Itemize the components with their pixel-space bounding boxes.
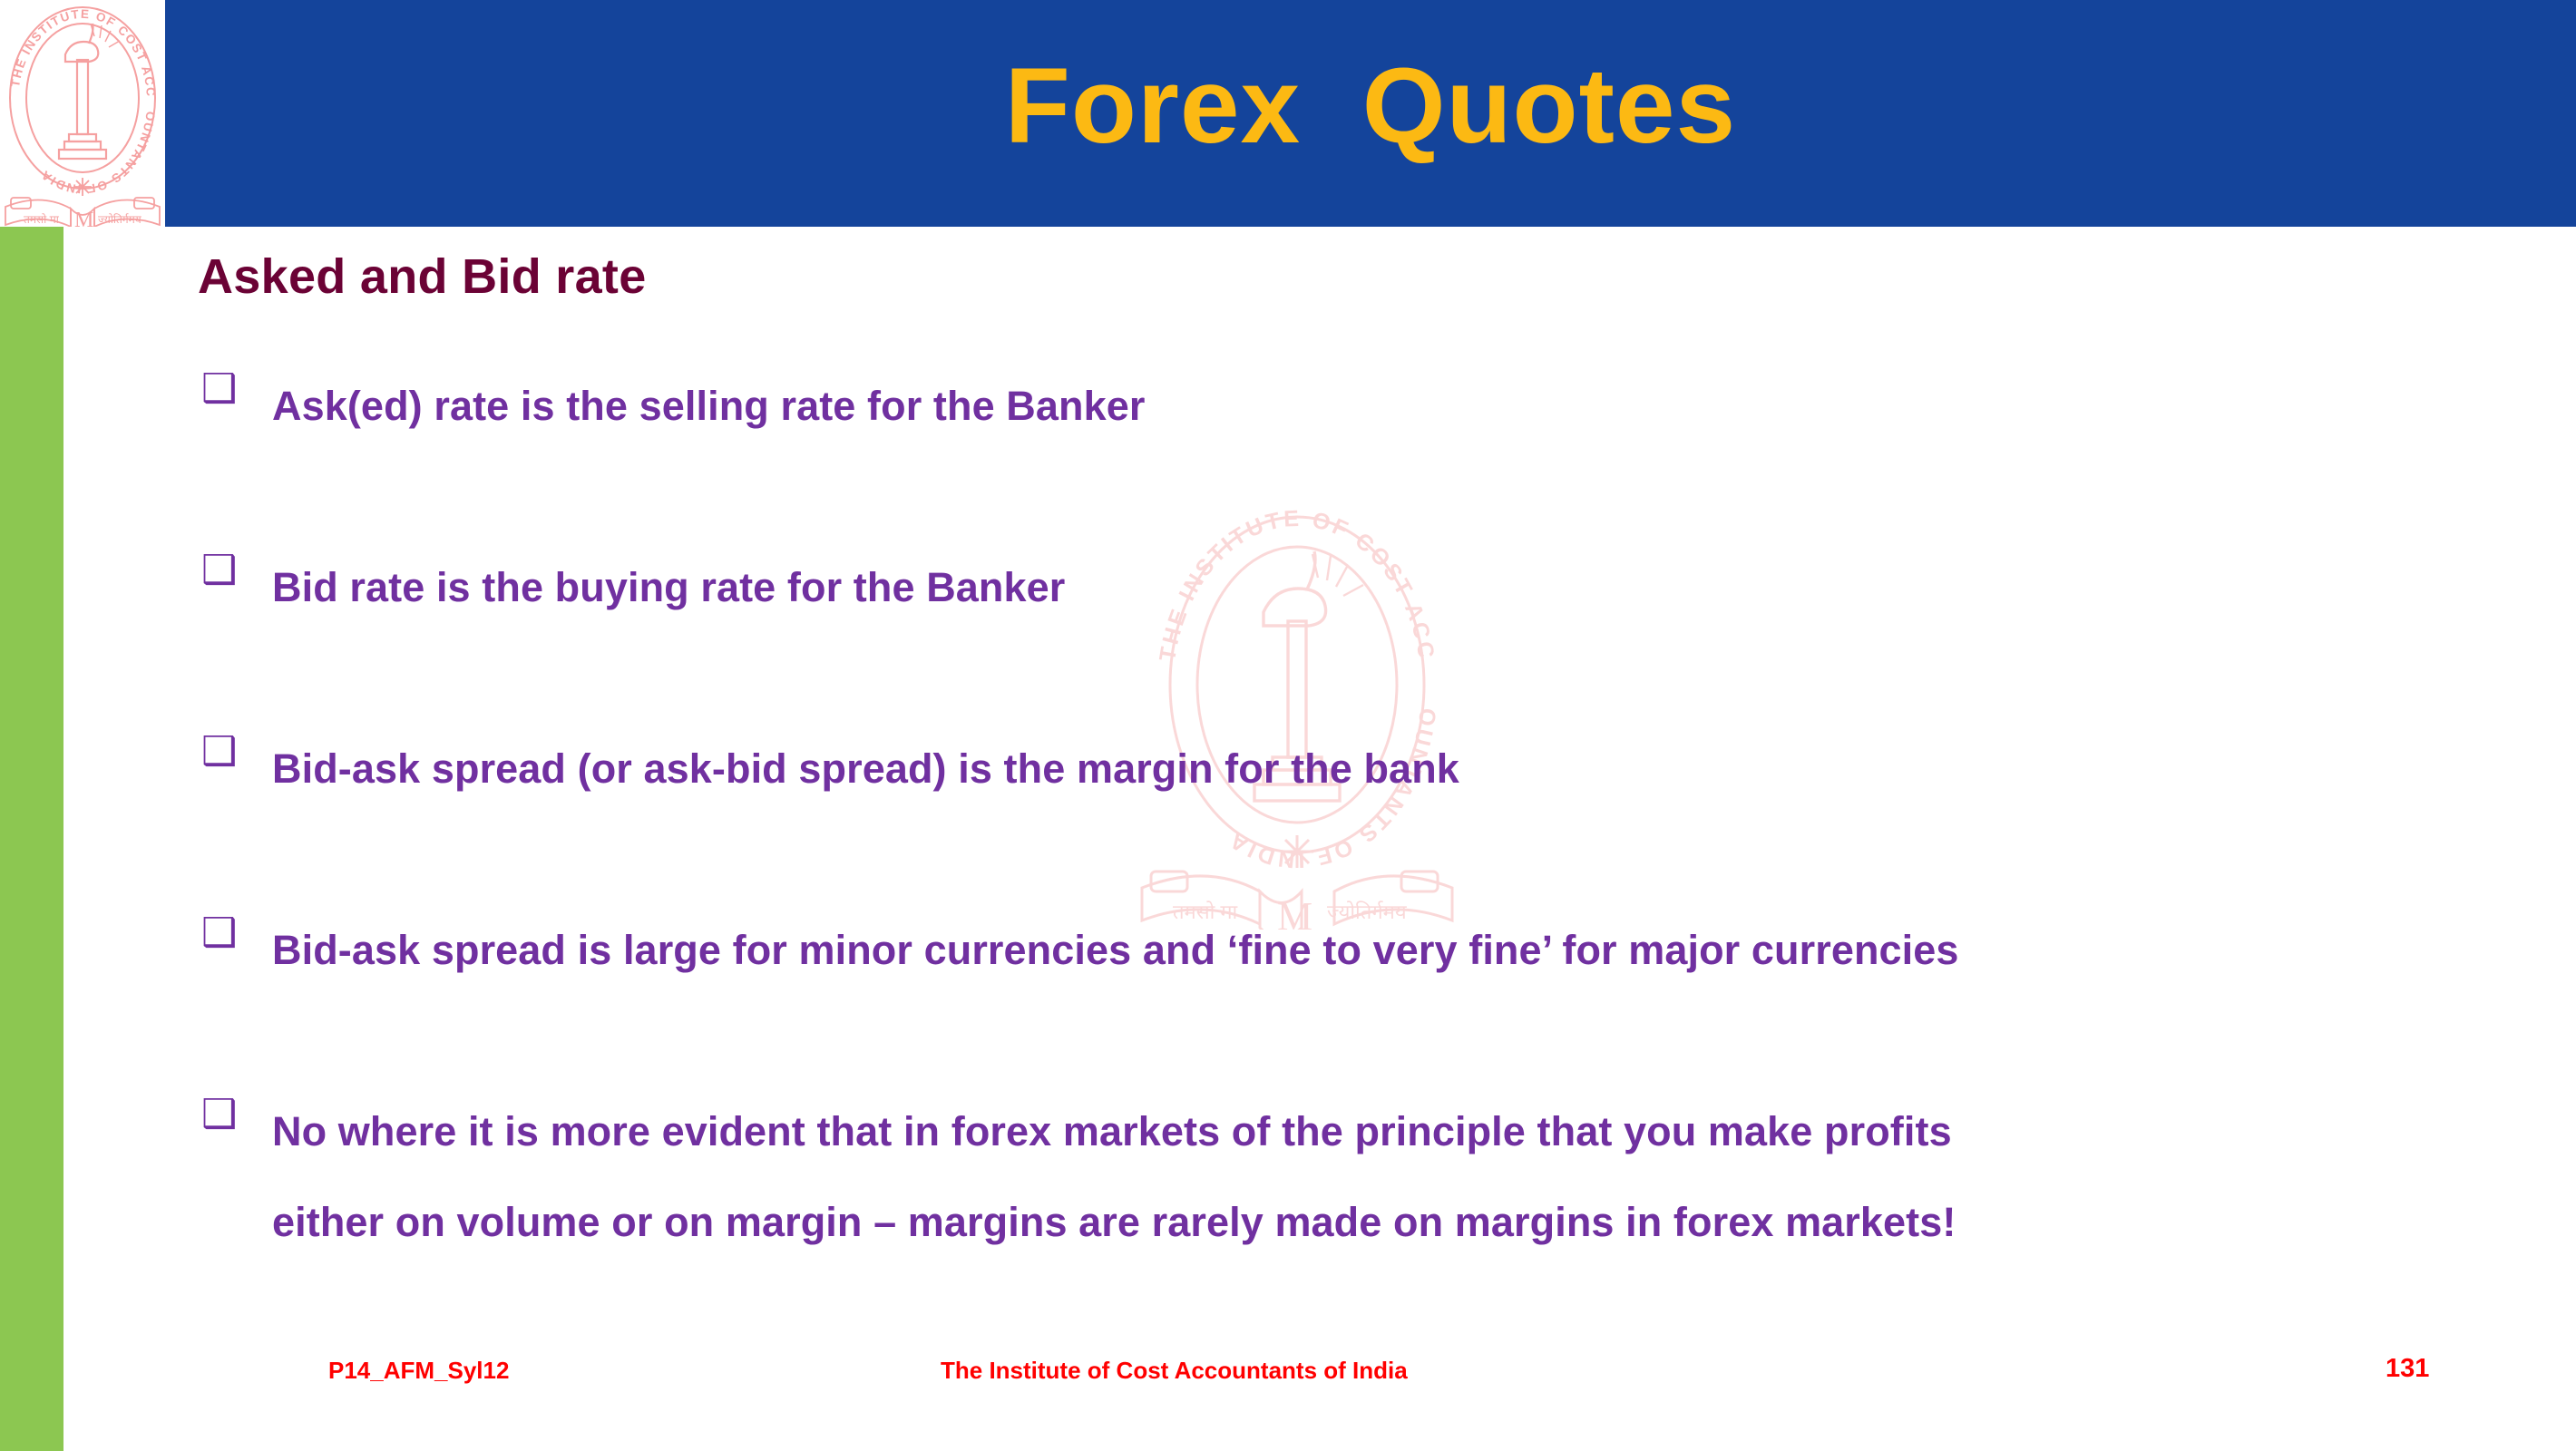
logo-motto-left: तमसो मा	[24, 213, 60, 226]
bullet-text-2: Bid rate is the buying rate for the Bank…	[272, 542, 2523, 633]
footer-page-number: 131	[2386, 1354, 2429, 1384]
bullet-item-2: ❑ Bid rate is the buying rate for the Ba…	[201, 542, 2523, 633]
icai-logo-mark: THE INSTITUTE OF COST ACC OUNTANTS OF IN…	[0, 0, 165, 227]
slide-title: Forex Quotes	[165, 0, 2576, 227]
slide-body: Asked and Bid rate ❑ Ask(ed) rate is the…	[0, 227, 2576, 1451]
square-bullet-icon: ❑	[201, 1086, 272, 1143]
title-banner: Forex Quotes	[165, 0, 2576, 227]
bullet-line: either on volume or on margin – margins …	[272, 1177, 2523, 1268]
square-bullet-icon: ❑	[201, 724, 272, 780]
footer-institute-name: The Institute of Cost Accountants of Ind…	[941, 1357, 1408, 1385]
slide-canvas: Forex Quotes	[0, 0, 2576, 1451]
square-bullet-icon: ❑	[201, 361, 272, 417]
bullet-line: Bid rate is the buying rate for the Bank…	[272, 542, 2523, 633]
logo-ring-text: THE INSTITUTE OF COST ACC	[8, 7, 158, 98]
bullet-line: Bid-ask spread (or ask-bid spread) is th…	[272, 724, 2523, 814]
bullet-line: Bid-ask spread is large for minor curren…	[272, 905, 2523, 996]
square-bullet-icon: ❑	[201, 542, 272, 599]
svg-text:OUNTANTS OF INDIA: OUNTANTS OF INDIA	[38, 111, 158, 196]
logo-motto-right: ज्योतिर्गमय	[98, 213, 142, 226]
bullet-item-5: ❑ No where it is more evident that in fo…	[201, 1086, 2523, 1268]
bullet-item-4: ❑ Bid-ask spread is large for minor curr…	[201, 905, 2523, 996]
bullet-text-3: Bid-ask spread (or ask-bid spread) is th…	[272, 724, 2523, 814]
icai-logo: THE INSTITUTE OF COST ACC OUNTANTS OF IN…	[0, 0, 165, 227]
footer-course-code: P14_AFM_Syl12	[328, 1357, 509, 1385]
slide-footer: P14_AFM_Syl12 The Institute of Cost Acco…	[0, 1349, 2576, 1413]
logo-monogram: M	[74, 209, 93, 227]
bullet-text-1: Ask(ed) rate is the selling rate for the…	[272, 361, 2523, 452]
bullet-text-4: Bid-ask spread is large for minor curren…	[272, 905, 2523, 996]
section-heading: Asked and Bid rate	[198, 248, 647, 305]
square-bullet-icon: ❑	[201, 905, 272, 961]
bullet-item-1: ❑ Ask(ed) rate is the selling rate for t…	[201, 361, 2523, 452]
bullet-line: No where it is more evident that in fore…	[272, 1086, 2523, 1177]
bullet-item-3: ❑ Bid-ask spread (or ask-bid spread) is …	[201, 724, 2523, 814]
bullet-line: Ask(ed) rate is the selling rate for the…	[272, 361, 2523, 452]
bullet-text-5: No where it is more evident that in fore…	[272, 1086, 2523, 1268]
